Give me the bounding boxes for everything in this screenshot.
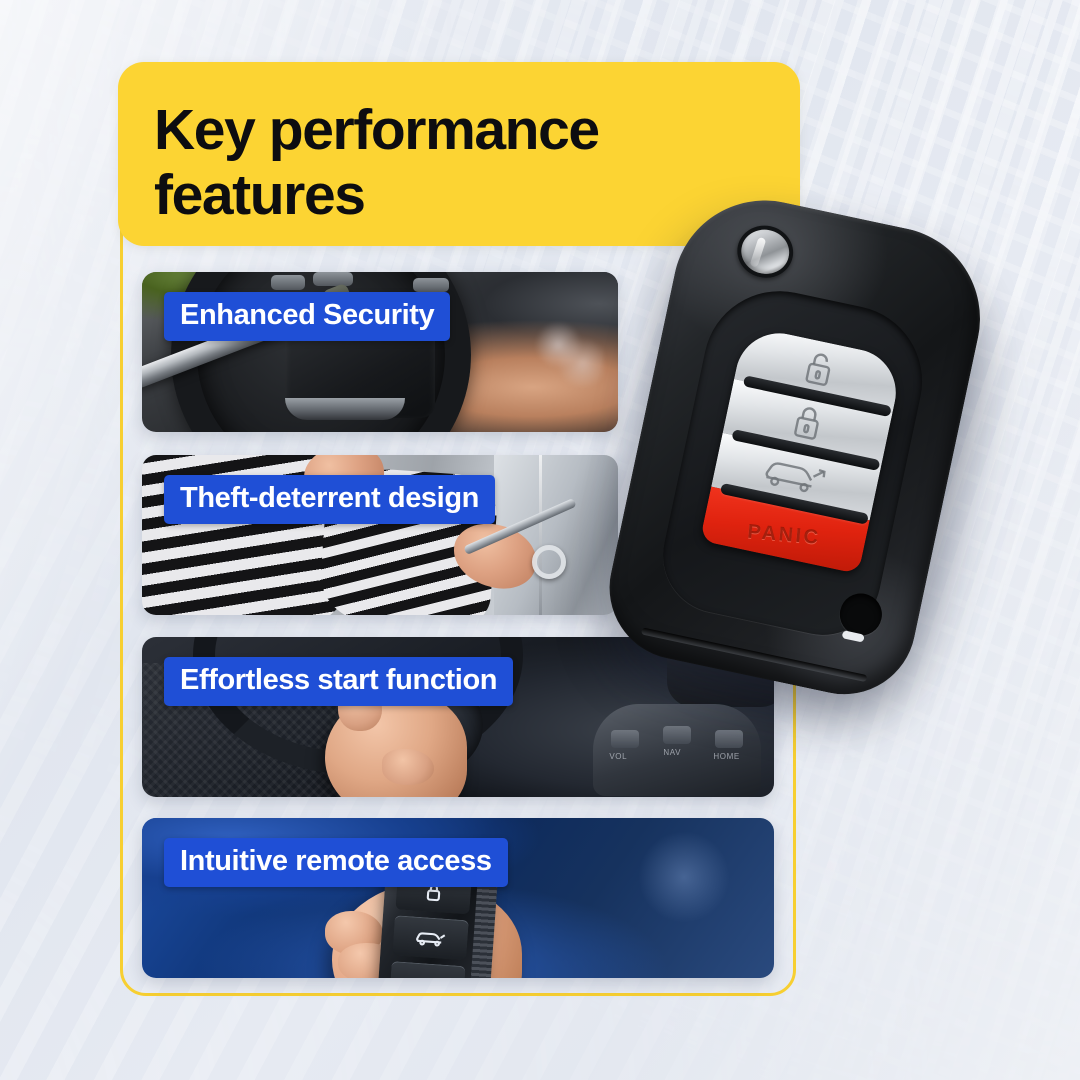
fob-body-shell: PANIC [596, 183, 997, 707]
console-home-button [715, 730, 743, 748]
fob-unlock-button [389, 962, 466, 978]
case-seam [641, 627, 867, 682]
console-nav-label: NAV [663, 748, 681, 757]
flip-key-fob: PANIC [563, 158, 1080, 754]
steering-wheel-chrome-trim [285, 398, 405, 420]
console-vol-label: VOL [609, 752, 627, 761]
center-console-controls: VOL NAV HOME [593, 704, 761, 796]
keyring-glint [532, 545, 566, 579]
steering-control-button [271, 275, 305, 290]
steering-control-button [313, 272, 353, 286]
panic-button-label: PANIC [747, 521, 822, 550]
lens-bokeh-glow [638, 831, 730, 923]
feature-card-intuitive-remote-access[interactable]: Intuitive remote access [142, 818, 774, 978]
poster-canvas: Key performance features Enhanced Securi… [0, 0, 1080, 1080]
console-nav-button [663, 726, 691, 744]
car-trunk-icon [413, 928, 448, 948]
feature-label-1: Theft-deterrent design [164, 475, 495, 524]
driver-thumb [382, 749, 434, 785]
fob-trunk-button [392, 916, 469, 961]
metal-pivot-rivet [732, 220, 798, 283]
car-door-seam [539, 455, 542, 615]
steering-control-button [413, 278, 449, 292]
console-home-label: HOME [713, 752, 739, 761]
feature-label-2: Effortless start function [164, 657, 513, 706]
feature-label-0: Enhanced Security [164, 292, 450, 341]
feature-card-enhanced-security[interactable]: Enhanced Security [142, 272, 618, 432]
console-power-button [611, 730, 639, 748]
feature-label-3: Intuitive remote access [164, 838, 508, 887]
dashboard-knobs [528, 317, 604, 387]
feature-card-theft-deterrent-design[interactable]: Theft-deterrent design [142, 455, 618, 615]
